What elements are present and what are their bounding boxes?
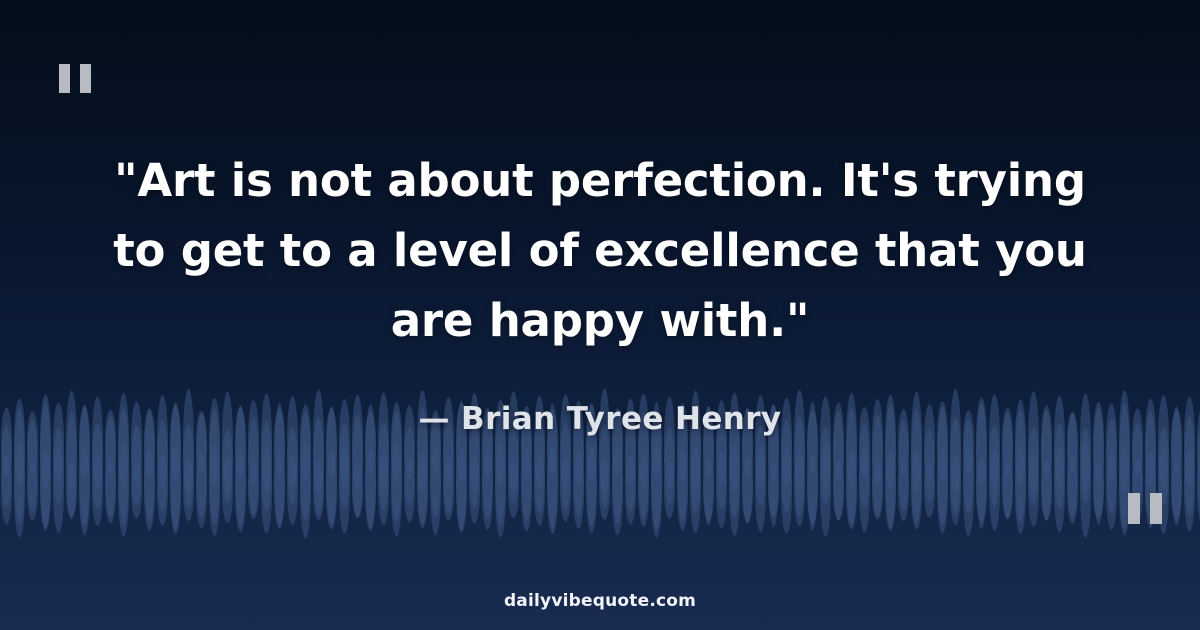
opening-quote-mark [59, 64, 91, 93]
quote-text-block: "Art is not about perfection. It's tryin… [0, 146, 1200, 356]
quote-bar-left [59, 64, 70, 93]
closing-quote-mark [1128, 493, 1162, 524]
site-url: dailyvibequote.com [0, 589, 1200, 613]
quote-card: "Art is not about perfection. It's tryin… [0, 0, 1200, 630]
quote-bar-left [1128, 493, 1140, 524]
author-name: — Brian Tyree Henry [0, 398, 1200, 440]
footer-block: dailyvibequote.com [0, 589, 1200, 613]
quote-text: "Art is not about perfection. It's tryin… [96, 146, 1104, 356]
quote-bar-right [1150, 493, 1162, 524]
quote-bar-gap [70, 64, 80, 93]
quote-bar-right [80, 64, 91, 93]
author-block: — Brian Tyree Henry [0, 398, 1200, 440]
quote-bar-gap [1140, 493, 1150, 524]
